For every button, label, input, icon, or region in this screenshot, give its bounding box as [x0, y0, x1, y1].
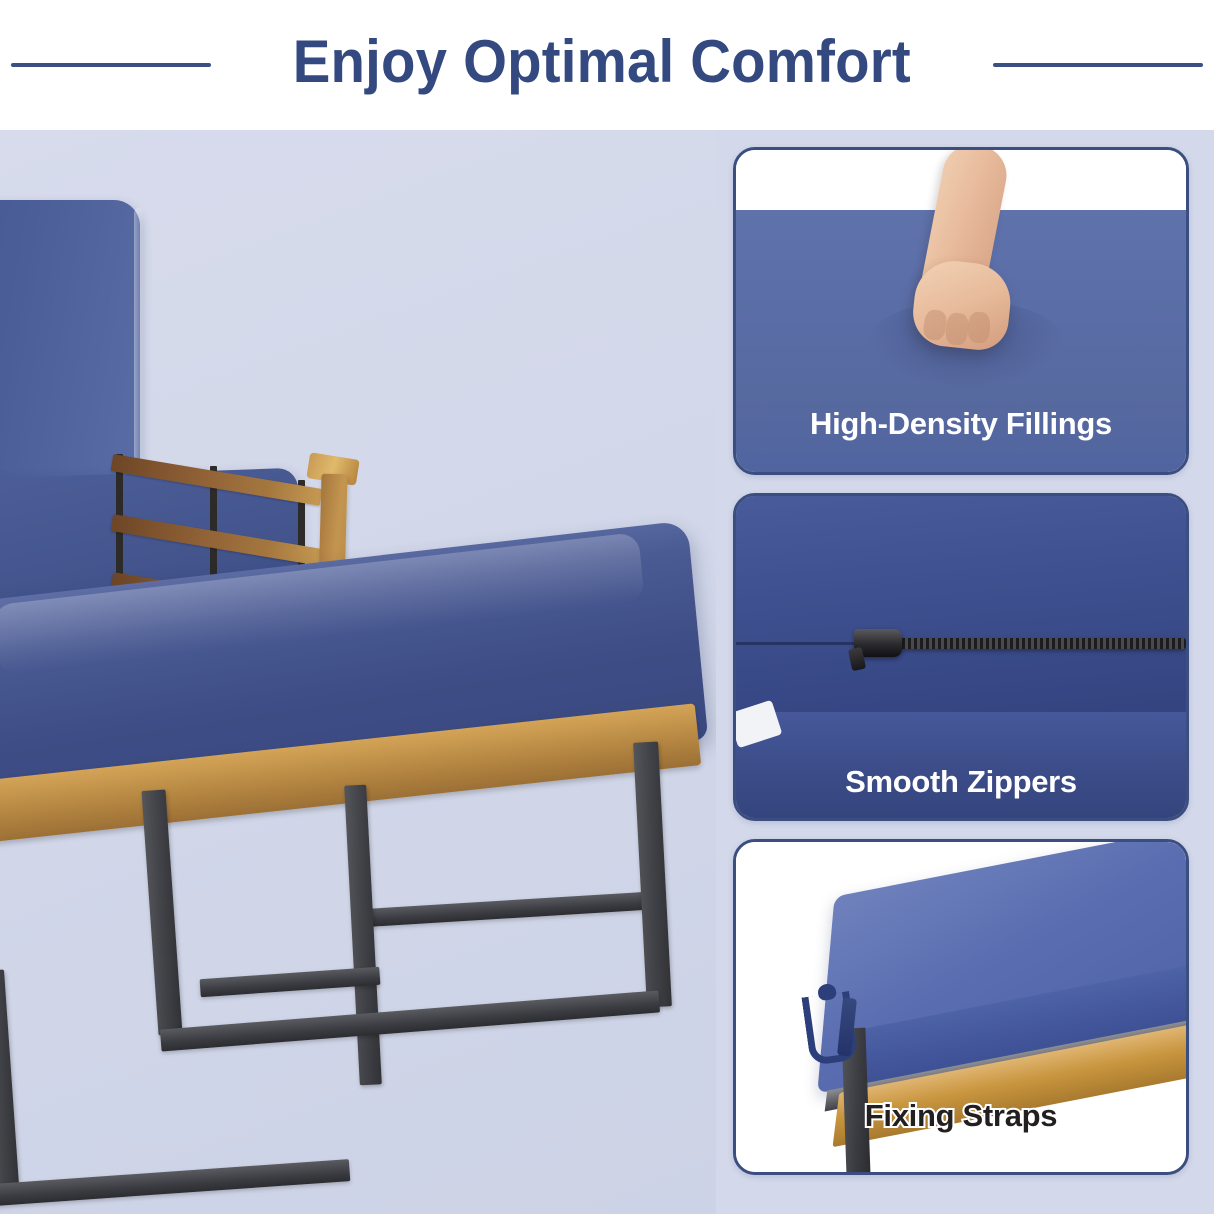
zipper-teeth — [896, 638, 1186, 649]
feature-panel-smooth-zippers: Smooth Zippers — [733, 493, 1189, 821]
panel-caption: Smooth Zippers — [736, 764, 1186, 800]
panel-caption: Fixing Straps — [736, 1098, 1186, 1134]
upper-cushion — [736, 496, 1186, 716]
feature-panel-fixing-straps: Fixing Straps — [733, 839, 1189, 1175]
feature-panel-list: High-Density Fillings Smooth Zippers — [733, 147, 1183, 1193]
header-banner: Enjoy Optimal Comfort — [0, 0, 1214, 130]
header-rule-left — [11, 63, 211, 67]
page-title: Enjoy Optimal Comfort — [293, 32, 911, 98]
hero-product-photo — [0, 130, 716, 1214]
header-rule-right — [993, 63, 1203, 67]
knuckle — [967, 311, 991, 343]
panel-caption: High-Density Fillings — [736, 406, 1186, 442]
infographic-page: Enjoy Optimal Comfort — [0, 0, 1214, 1214]
feature-panel-high-density-fillings: High-Density Fillings — [733, 147, 1189, 475]
content-area: High-Density Fillings Smooth Zippers — [0, 130, 1214, 1214]
